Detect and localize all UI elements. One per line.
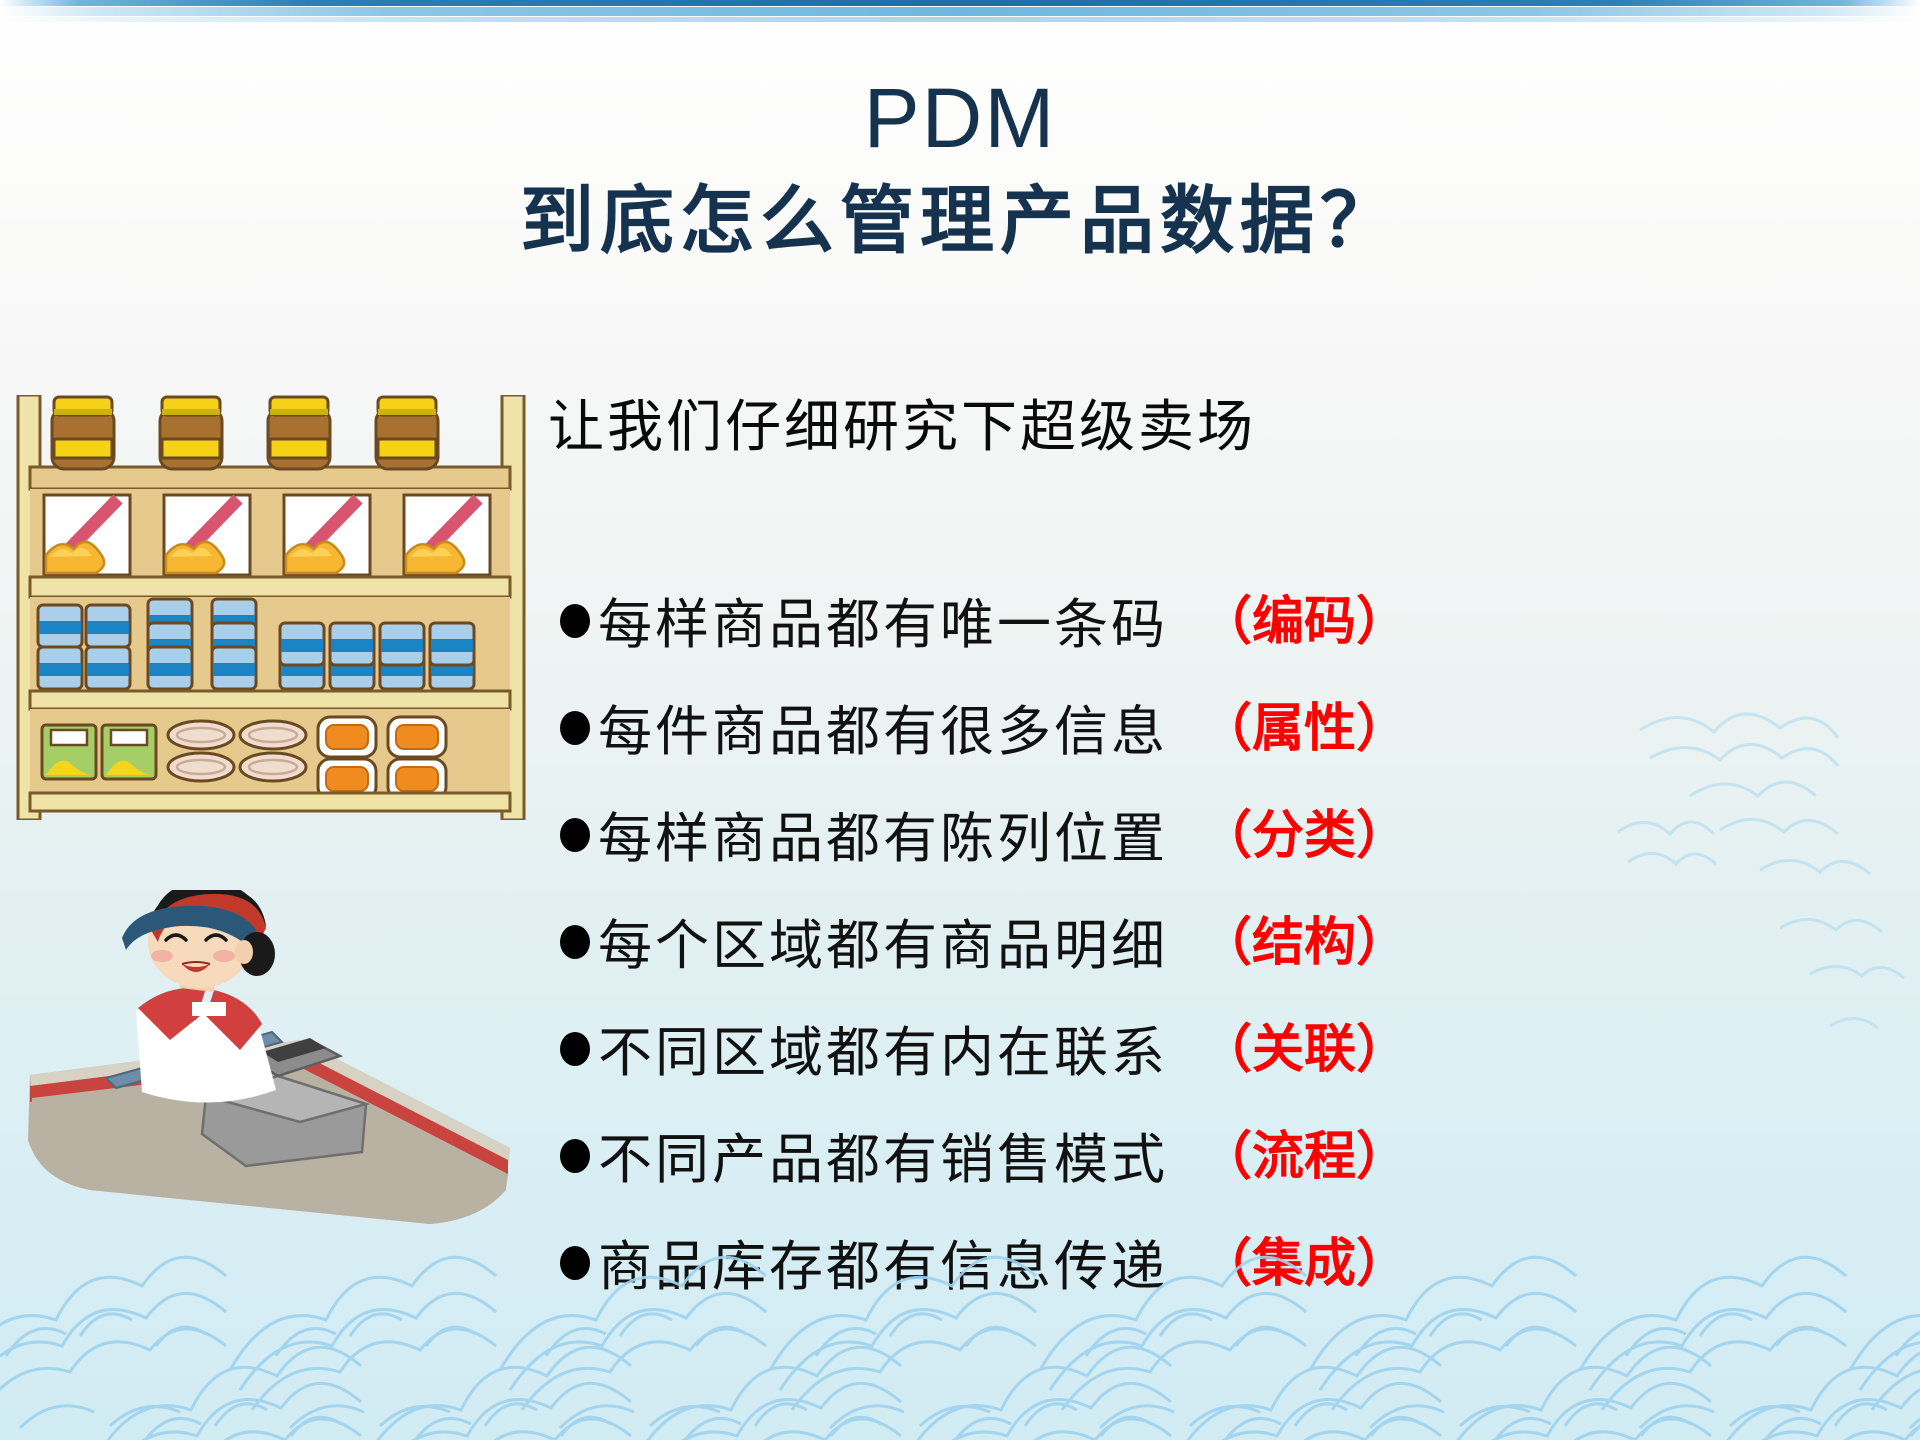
page-subtitle: 到底怎么管理产品数据？: [0, 182, 1920, 262]
list-item-label: 不同区域都有内在联系: [598, 1026, 1168, 1080]
supermarket-shelf-illustration: [8, 395, 538, 820]
bullet-dot-icon: [560, 711, 590, 745]
list-item: 不同产品都有销售模式 （流程）: [560, 1133, 1890, 1240]
list-item-tag: （流程）: [1200, 1131, 1408, 1183]
list-item-tag: （编码）: [1200, 596, 1408, 648]
list-item-tag: （属性）: [1200, 703, 1408, 755]
list-item-label: 每样商品都有陈列位置: [598, 812, 1168, 866]
band-stripe-light: [0, 17, 1920, 22]
list-item: 每样商品都有唯一条码 （编码）: [560, 598, 1890, 705]
band-stripe-mid: [0, 7, 1920, 16]
bullet-dot-icon: [560, 604, 590, 638]
band-stripe-dark: [0, 0, 1920, 6]
bullet-dot-icon: [560, 818, 590, 852]
list-item: 每个区域都有商品明细 （结构）: [560, 919, 1890, 1026]
bullet-dot-icon: [560, 1032, 590, 1066]
list-item: 不同区域都有内在联系 （关联）: [560, 1026, 1890, 1133]
bullet-dot-icon: [560, 925, 590, 959]
list-item: 每样商品都有陈列位置 （分类）: [560, 812, 1890, 919]
list-item-label: 每个区域都有商品明细: [598, 919, 1168, 973]
list-item-label: 不同产品都有销售模式: [598, 1133, 1168, 1187]
list-item: 每件商品都有很多信息 （属性）: [560, 705, 1890, 812]
top-decorative-band: [0, 0, 1920, 26]
bullet-dot-icon: [560, 1246, 590, 1280]
slide-canvas: PDM 到底怎么管理产品数据？ 让我们仔细研究下超级卖场 每样商品都有唯一条码 …: [0, 0, 1920, 1440]
list-item-tag: （集成）: [1200, 1238, 1408, 1290]
list-item-label: 每样商品都有唯一条码: [598, 598, 1168, 652]
list-item-tag: （结构）: [1200, 917, 1408, 969]
list-item-tag: （关联）: [1200, 1024, 1408, 1076]
bullet-list: 每样商品都有唯一条码 （编码） 每件商品都有很多信息 （属性） 每样商品都有陈列…: [560, 598, 1890, 1347]
list-item-label: 每件商品都有很多信息: [598, 705, 1168, 759]
list-item: 商品库存都有信息传递 （集成）: [560, 1240, 1890, 1347]
list-item-label: 商品库存都有信息传递: [598, 1240, 1168, 1294]
list-item-tag: （分类）: [1200, 810, 1408, 862]
lead-text: 让我们仔细研究下超级卖场: [548, 400, 1256, 456]
bullet-dot-icon: [560, 1139, 590, 1173]
cashier-counter-illustration: [10, 890, 520, 1290]
page-title: PDM: [0, 76, 1920, 160]
